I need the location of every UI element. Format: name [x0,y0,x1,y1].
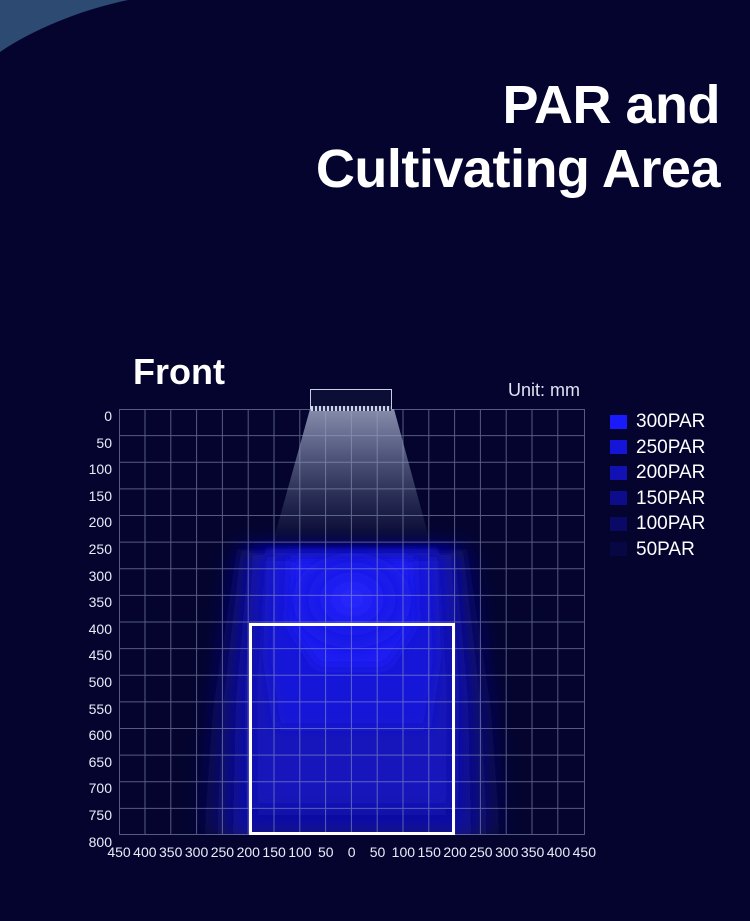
x-axis-tick: 200 [237,845,260,859]
y-axis-labels: 0501001502002503003504004505005506006507… [60,400,112,846]
x-axis-tick: 250 [469,845,492,859]
legend-label: 50PAR [636,540,695,559]
page-title: PAR and Cultivating Area [316,74,720,201]
legend-item[interactable]: 50PAR [610,537,740,563]
chart-unit-label: Unit: mm [508,381,580,399]
x-axis-tick: 350 [521,845,544,859]
legend-item[interactable]: 100PAR [610,511,740,537]
x-axis-tick: 50 [370,845,386,859]
page-title-line-2: Cultivating Area [316,138,720,202]
x-axis-tick: 350 [159,845,182,859]
legend-label: 200PAR [636,463,705,482]
x-axis-tick: 300 [495,845,518,859]
legend-item[interactable]: 250PAR [610,435,740,461]
y-axis-tick: 150 [89,489,112,503]
y-axis-tick: 600 [89,728,112,742]
y-axis-tick: 250 [89,542,112,556]
legend-color-swatch [610,491,627,505]
y-axis-tick: 350 [89,595,112,609]
x-axis-tick: 0 [348,845,356,859]
legend-item[interactable]: 150PAR [610,486,740,512]
x-axis-tick: 400 [547,845,570,859]
y-axis-tick: 500 [89,675,112,689]
x-axis-tick: 450 [107,845,130,859]
y-axis-tick: 300 [89,569,112,583]
chart-view-label: Front [133,354,225,390]
legend-label: 300PAR [636,412,705,431]
x-axis-tick: 50 [318,845,334,859]
legend-color-swatch [610,466,627,480]
par-field-render [119,409,585,835]
corner-accent-shape [0,0,140,60]
legend-label: 250PAR [636,438,705,457]
par-cultivating-area-page: PAR and Cultivating Area Front Unit: mm [0,0,750,921]
y-axis-tick: 100 [89,462,112,476]
par-heatmap-plot [119,409,585,835]
legend-item[interactable]: 300PAR [610,409,740,435]
x-axis-tick: 400 [133,845,156,859]
led-diode-strip-icon [311,406,391,411]
y-axis-tick: 700 [89,781,112,795]
y-axis-tick: 750 [89,808,112,822]
y-axis-tick: 450 [89,648,112,662]
y-axis-tick: 50 [96,436,112,450]
x-axis-tick: 150 [262,845,285,859]
x-axis-labels: 4504003503002502001501005005010015020025… [104,845,604,867]
legend-label: 150PAR [636,489,705,508]
x-axis-tick: 150 [418,845,441,859]
x-axis-tick: 300 [185,845,208,859]
legend-color-swatch [610,440,627,454]
x-axis-tick: 250 [211,845,234,859]
page-title-line-1: PAR and [316,74,720,138]
y-axis-tick: 0 [104,409,112,423]
x-axis-tick: 200 [443,845,466,859]
x-axis-tick: 100 [288,845,311,859]
y-axis-tick: 200 [89,515,112,529]
legend-color-swatch [610,542,627,556]
legend-color-swatch [610,517,627,531]
y-axis-tick: 400 [89,622,112,636]
x-axis-tick: 100 [392,845,415,859]
legend-item[interactable]: 200PAR [610,460,740,486]
legend-label: 100PAR [636,514,705,533]
y-axis-tick: 550 [89,702,112,716]
y-axis-tick: 650 [89,755,112,769]
x-axis-tick: 450 [573,845,596,859]
legend-color-swatch [610,415,627,429]
par-legend: 300PAR250PAR200PAR150PAR100PAR50PAR [610,409,740,562]
